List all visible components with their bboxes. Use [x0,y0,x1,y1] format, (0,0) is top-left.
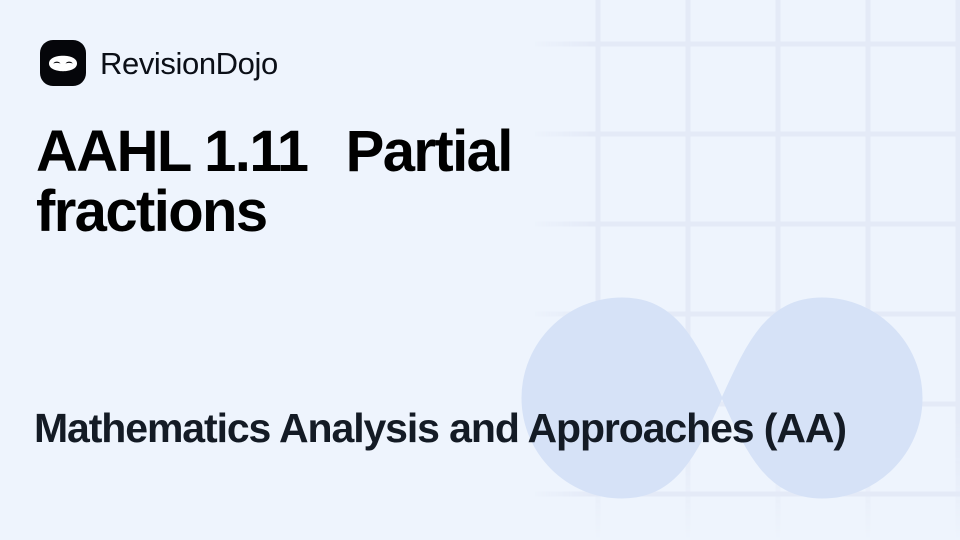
title-spacer [307,119,345,184]
brand-logo: RevisionDojo [40,40,278,86]
page-title-code: AAHL 1.11 [36,119,307,184]
brand-name: RevisionDojo [100,48,278,79]
slide-canvas: RevisionDojo AAHL 1.11 Partial fractions… [0,0,960,540]
infinity-icon [512,288,932,508]
page-title: AAHL 1.11 Partial fractions [36,122,576,243]
ninja-mask-icon [40,40,86,86]
subject-subtitle: Mathematics Analysis and Approaches (AA) [34,406,934,450]
